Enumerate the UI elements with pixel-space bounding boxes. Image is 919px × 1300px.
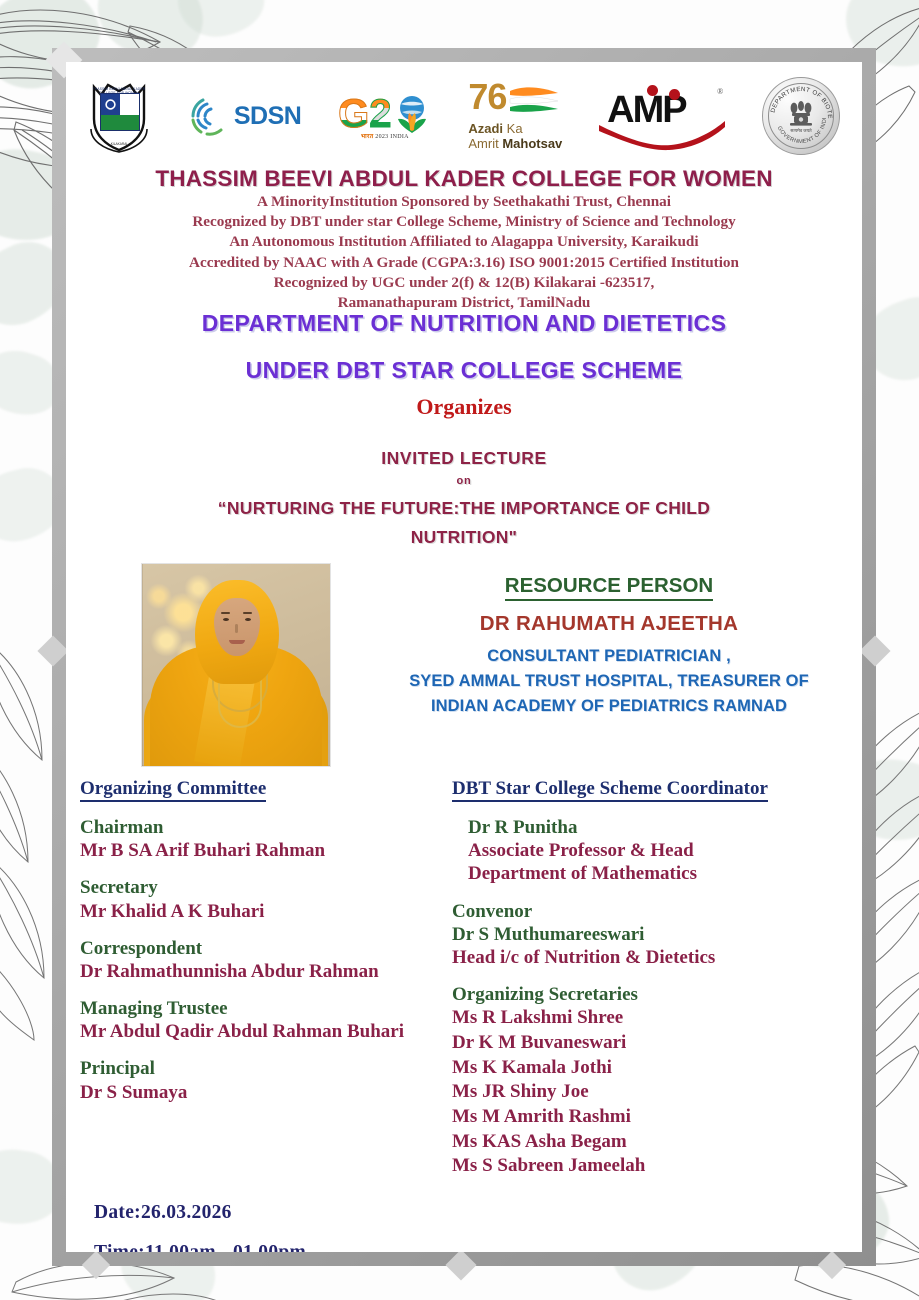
convenor-entry: Convenor Dr S Muthumareeswari Head i/c o… — [452, 900, 852, 970]
crest-quarters — [100, 93, 140, 131]
organizing-committee-column: Organizing Committee Chairman Mr B SA Ar… — [80, 778, 460, 1104]
photo-eye-right — [245, 618, 251, 621]
g20-globe-lotus-icon — [392, 93, 432, 135]
coordinator-designation: Associate Professor & Head — [468, 839, 852, 862]
dbt-logo-icon: DEPARTMENT OF BIOTECHNOLOGY GOVERNMENT O… — [762, 77, 840, 155]
coordinator-column: DBT Star College Scheme Coordinator Dr R… — [452, 778, 852, 1179]
resource-person-designation-3: INDIAN ACADEMY OF PEDIATRICS RAMNAD — [366, 694, 852, 719]
photo-eyebrow-right — [243, 612, 252, 614]
photo-eyebrow-left — [221, 612, 230, 614]
organizes-label: Organizes — [66, 394, 862, 420]
organizing-secretaries-heading: Organizing Secretaries — [452, 983, 852, 1006]
azadi-line-1: Azadi Ka — [468, 121, 522, 136]
crest-motto: KILAKARAI — [88, 142, 150, 146]
member-role: Managing Trustee — [80, 997, 460, 1020]
coordinator-heading: DBT Star College Scheme Coordinator — [452, 778, 768, 802]
logo-strip: THASSIM BEEVI ABDUL KADERCOLLEGE FOR WOM… — [66, 70, 862, 162]
g20-letter-g: G — [338, 95, 369, 133]
azadi-number: 76 — [468, 81, 506, 113]
secretary-name: Ms M Amrith Rashmi — [452, 1105, 852, 1130]
accreditation-line: Accredited by NAAC with A Grade (CGPA:3.… — [66, 253, 862, 273]
resource-person-photo — [142, 564, 330, 766]
lecture-title-line-2: NUTRITION" — [66, 524, 862, 551]
frame-notch-right-mid — [859, 635, 890, 666]
lecture-title-line-1: “NURTURING THE FUTURE:THE IMPORTANCE OF … — [66, 495, 862, 522]
college-crest-icon: THASSIM BEEVI ABDUL KADERCOLLEGE FOR WOM… — [88, 79, 150, 153]
sdsn-logo-icon: SDSN — [187, 94, 301, 138]
committee-member: Secretary Mr Khalid A K Buhari — [80, 876, 460, 922]
event-details-block: Date:26.03.2026 Time:11.00am - 01.00pm V… — [94, 1202, 306, 1252]
member-name: Mr Abdul Qadir Abdul Rahman Buhari — [80, 1020, 460, 1043]
resource-person-designation-2: SYED AMMAL TRUST HOSPITAL, TREASURER OF — [366, 669, 852, 694]
convenor-name: Dr S Muthumareeswari — [452, 923, 852, 946]
member-role: Chairman — [80, 816, 460, 839]
secretary-name: Ms S Sabreen Jameelah — [452, 1154, 852, 1179]
amp-swoosh-icon — [599, 121, 725, 147]
member-role: Principal — [80, 1057, 460, 1080]
accreditation-line: An Autonomous Institution Affiliated to … — [66, 232, 862, 252]
convenor-role: Convenor — [452, 900, 852, 923]
organizing-committee-heading: Organizing Committee — [80, 778, 266, 802]
photo-nose — [235, 624, 238, 633]
svg-text:DEPARTMENT OF BIOTECHNOLOGY: DEPARTMENT OF BIOTECHNOLOGY — [760, 73, 833, 119]
photo-mouth — [229, 640, 245, 644]
scheme-name: UNDER DBT STAR COLLEGE SCHEME — [66, 357, 862, 384]
committee-member: Managing Trustee Mr Abdul Qadir Abdul Ra… — [80, 997, 460, 1043]
poster-canvas: THASSIM BEEVI ABDUL KADERCOLLEGE FOR WOM… — [0, 0, 919, 1300]
committee-member: Chairman Mr B SA Arif Buhari Rahman — [80, 816, 460, 862]
committee-columns: Organizing Committee Chairman Mr B SA Ar… — [66, 778, 862, 1248]
frame-notch-left-mid — [37, 635, 68, 666]
committee-member: Correspondent Dr Rahmathunnisha Abdur Ra… — [80, 937, 460, 983]
member-name: Dr Rahmathunnisha Abdur Rahman — [80, 960, 460, 983]
g20-sub-label: भारत 2023 INDIA — [361, 132, 409, 140]
secretary-name: Dr K M Buvaneswari — [452, 1031, 852, 1056]
member-role: Secretary — [80, 876, 460, 899]
resource-person-block: RESOURCE PERSON DR RAHUMATH AJEETHA CONS… — [366, 574, 852, 719]
resource-person-designation-1: CONSULTANT PEDIATRICIAN , — [366, 644, 852, 669]
member-name: Mr B SA Arif Buhari Rahman — [80, 839, 460, 862]
member-name: Dr S Sumaya — [80, 1081, 460, 1104]
coordinator-department: Department of Mathematics — [468, 862, 852, 885]
lecture-on-label: on — [66, 475, 862, 487]
department-block: DEPARTMENT OF NUTRITION AND DIETETICS UN… — [66, 310, 862, 420]
lecture-block: INVITED LECTURE on “NURTURING THE FUTURE… — [66, 448, 862, 551]
resource-person-heading: RESOURCE PERSON — [505, 574, 713, 601]
g20-digit-2: 2 — [369, 95, 391, 133]
accreditation-line: A MinorityInstitution Sponsored by Seeth… — [66, 192, 862, 212]
secretary-name: Ms R Lakshmi Shree — [452, 1006, 852, 1031]
lecture-type: INVITED LECTURE — [66, 448, 862, 469]
frame-notch-bottom-right — [818, 1251, 846, 1279]
watercolor-blob — [174, 0, 269, 42]
committee-member: Principal Dr S Sumaya — [80, 1057, 460, 1103]
coordinator-entry: Dr R Punitha Associate Professor & Head … — [452, 816, 852, 886]
amp-logo-icon: AMP ® — [599, 85, 725, 147]
azadi-ka-amrit-mahotsav-icon: 76 Azadi Ka Amrit Mahotsav — [468, 81, 562, 151]
accreditation-line: Recognized by DBT under star College Sch… — [66, 212, 862, 232]
event-time: Time:11.00am - 01.00pm — [94, 1242, 306, 1252]
g20-logo-icon: G 2 भारत 2023 INDIA — [338, 93, 431, 140]
convenor-designation: Head i/c of Nutrition & Dietetics — [452, 946, 852, 969]
department-name: DEPARTMENT OF NUTRITION AND DIETETICS — [66, 310, 862, 337]
ashoka-emblem-icon — [790, 101, 812, 126]
event-date: Date:26.03.2026 — [94, 1202, 306, 1224]
azadi-line-2: Amrit Mahotsav — [468, 136, 562, 151]
tricolour-flag-icon — [508, 85, 560, 119]
college-accreditation-block: A MinorityInstitution Sponsored by Seeth… — [66, 192, 862, 313]
frame-notch-bottom-left — [82, 1251, 110, 1279]
amp-registered-mark: ® — [717, 87, 723, 96]
resource-person-name: DR RAHUMATH AJEETHA — [366, 612, 852, 636]
secretary-name: Ms K Kamala Jothi — [452, 1056, 852, 1081]
svg-text:सत्यमेव जयते: सत्यमेव जयते — [790, 128, 812, 133]
content-panel: THASSIM BEEVI ABDUL KADERCOLLEGE FOR WOM… — [66, 62, 862, 1252]
college-name: THASSIM BEEVI ABDUL KADER COLLEGE FOR WO… — [66, 166, 862, 192]
member-name: Mr Khalid A K Buhari — [80, 900, 460, 923]
photo-eye-left — [223, 618, 229, 621]
coordinator-name: Dr R Punitha — [468, 816, 852, 839]
sdsn-label: SDSN — [234, 102, 301, 131]
secretary-name: Ms JR Shiny Joe — [452, 1080, 852, 1105]
member-role: Correspondent — [80, 937, 460, 960]
organizing-secretaries-block: Organizing Secretaries Ms R Lakshmi Shre… — [452, 983, 852, 1179]
secretary-name: Ms KAS Asha Begam — [452, 1130, 852, 1155]
frame-notch-bottom-mid — [445, 1249, 476, 1280]
accreditation-line: Recognized by UGC under 2(f) & 12(B) Kil… — [66, 273, 862, 293]
